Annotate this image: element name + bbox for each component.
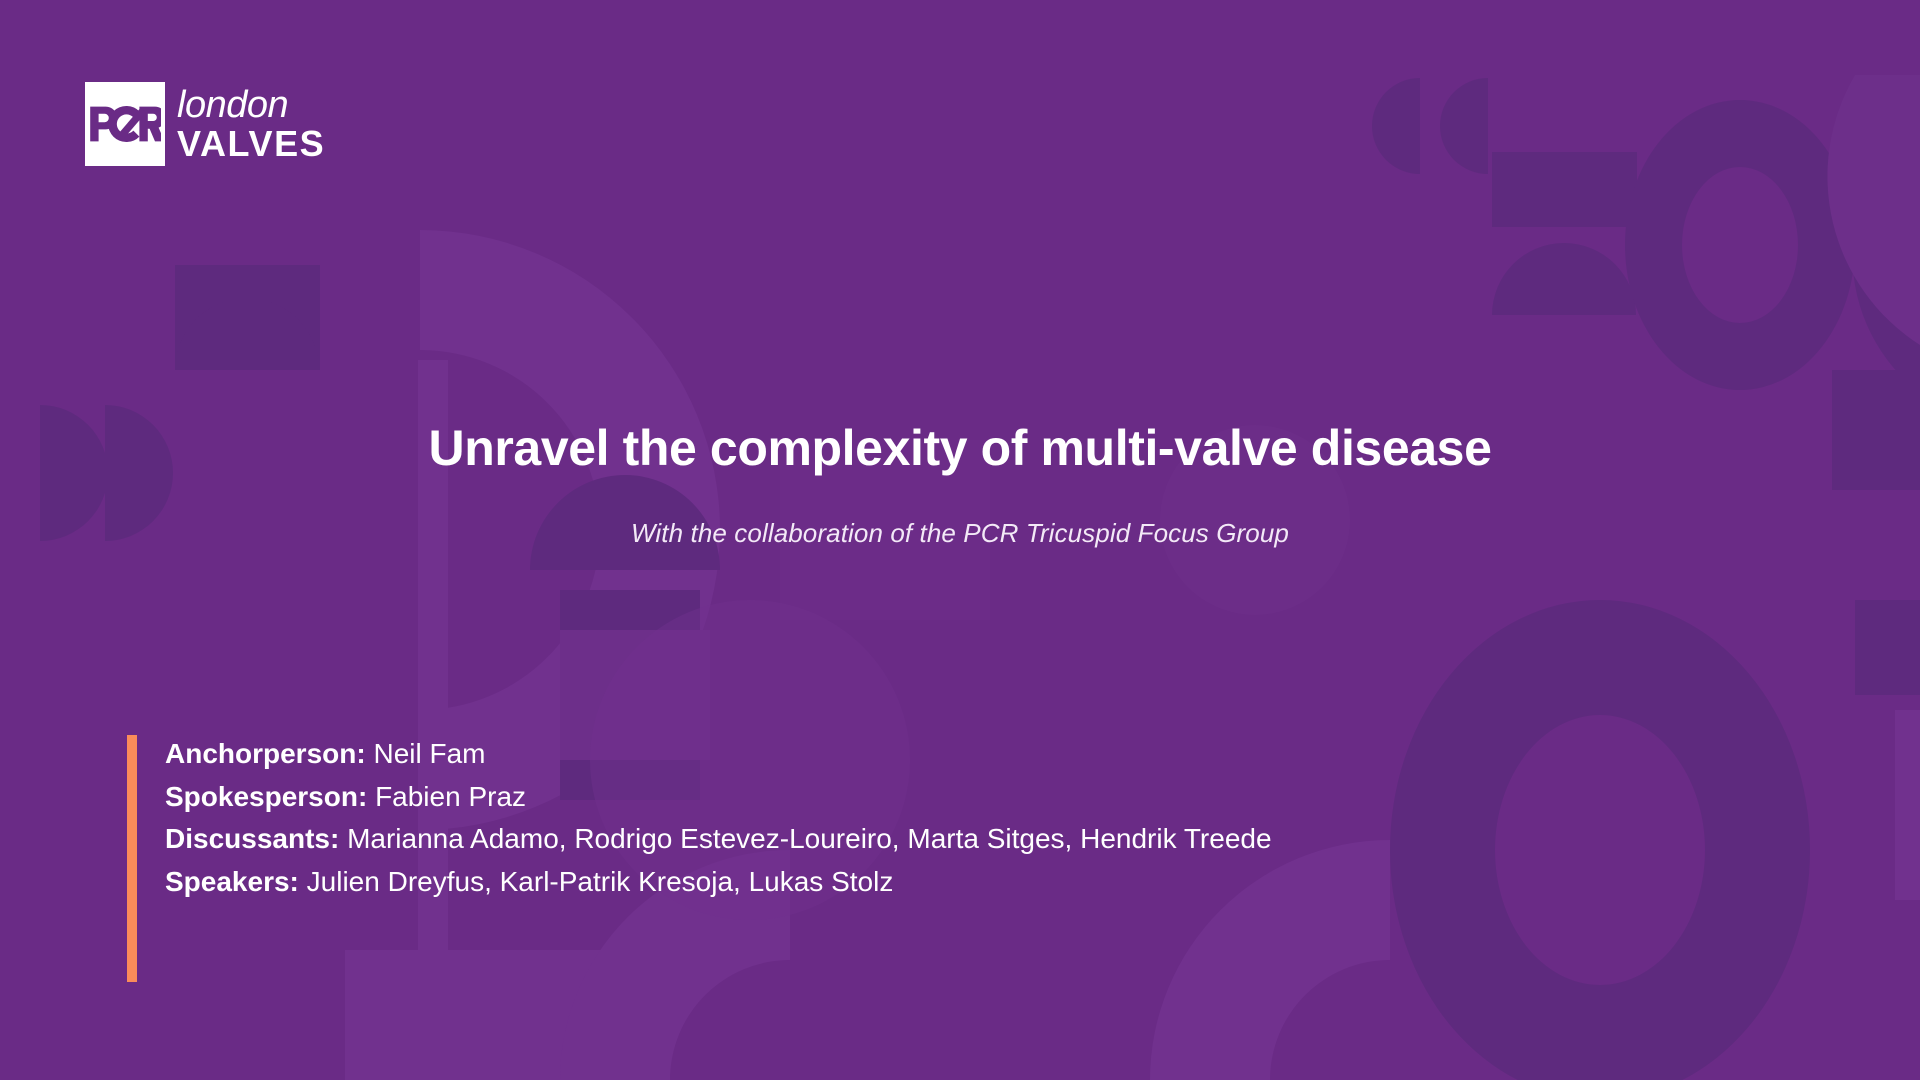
credit-names-value: Neil Fam	[373, 738, 485, 769]
logo-brand-label: VALVES	[177, 126, 325, 162]
deco-semicircle-topright-a	[1372, 78, 1420, 174]
credit-line-spokesperson: Spokesperson: Fabien Praz	[165, 778, 1272, 817]
deco-ring-topright	[1625, 100, 1855, 390]
page-title: Unravel the complexity of multi-valve di…	[120, 420, 1800, 478]
deco-dome-left	[175, 298, 319, 370]
credits-block: Anchorperson: Neil Fam Spokesperson: Fab…	[127, 735, 1272, 902]
credit-role-label: Discussants:	[165, 823, 339, 854]
deco-dome-topright	[1492, 243, 1636, 315]
presentation-slide: london VALVES Unravel the complexity of …	[0, 0, 1920, 1080]
pcr-london-valves-logo: london VALVES	[85, 82, 325, 166]
credit-line-anchorperson: Anchorperson: Neil Fam	[165, 735, 1272, 774]
credit-line-speakers: Speakers: Julien Dreyfus, Karl-Patrik Kr…	[165, 863, 1272, 902]
credit-names-value: Marianna Adamo, Rodrigo Estevez-Loureiro…	[347, 823, 1271, 854]
deco-rect-center-low	[345, 950, 645, 1080]
credit-role-label: Speakers:	[165, 866, 299, 897]
deco-arc-right-edge-inner	[1827, 75, 1920, 345]
deco-arc-right-edge	[1852, 75, 1920, 375]
logo-wordmark: london VALVES	[177, 82, 325, 166]
pcr-logo-mark	[85, 82, 165, 166]
deco-rect-topright	[1492, 152, 1637, 227]
page-subtitle: With the collaboration of the PCR Tricus…	[120, 518, 1800, 549]
credit-names-value: Fabien Praz	[375, 781, 526, 812]
credit-names-value: Julien Dreyfus, Karl-Patrik Kresoja, Luk…	[307, 866, 894, 897]
deco-ring-bottomright	[1390, 600, 1810, 1080]
title-block: Unravel the complexity of multi-valve di…	[0, 420, 1920, 549]
deco-rect-bottomright	[1895, 710, 1920, 900]
credit-role-label: Anchorperson:	[165, 738, 366, 769]
credit-role-label: Spokesperson:	[165, 781, 367, 812]
credit-line-discussants: Discussants: Marianna Adamo, Rodrigo Est…	[165, 820, 1272, 859]
deco-rect-right-low	[1855, 600, 1920, 695]
deco-rect-left-top	[175, 265, 320, 370]
logo-city-label: london	[177, 86, 325, 124]
deco-semicircle-topright-b	[1440, 78, 1488, 174]
credits-accent-bar	[127, 735, 137, 982]
